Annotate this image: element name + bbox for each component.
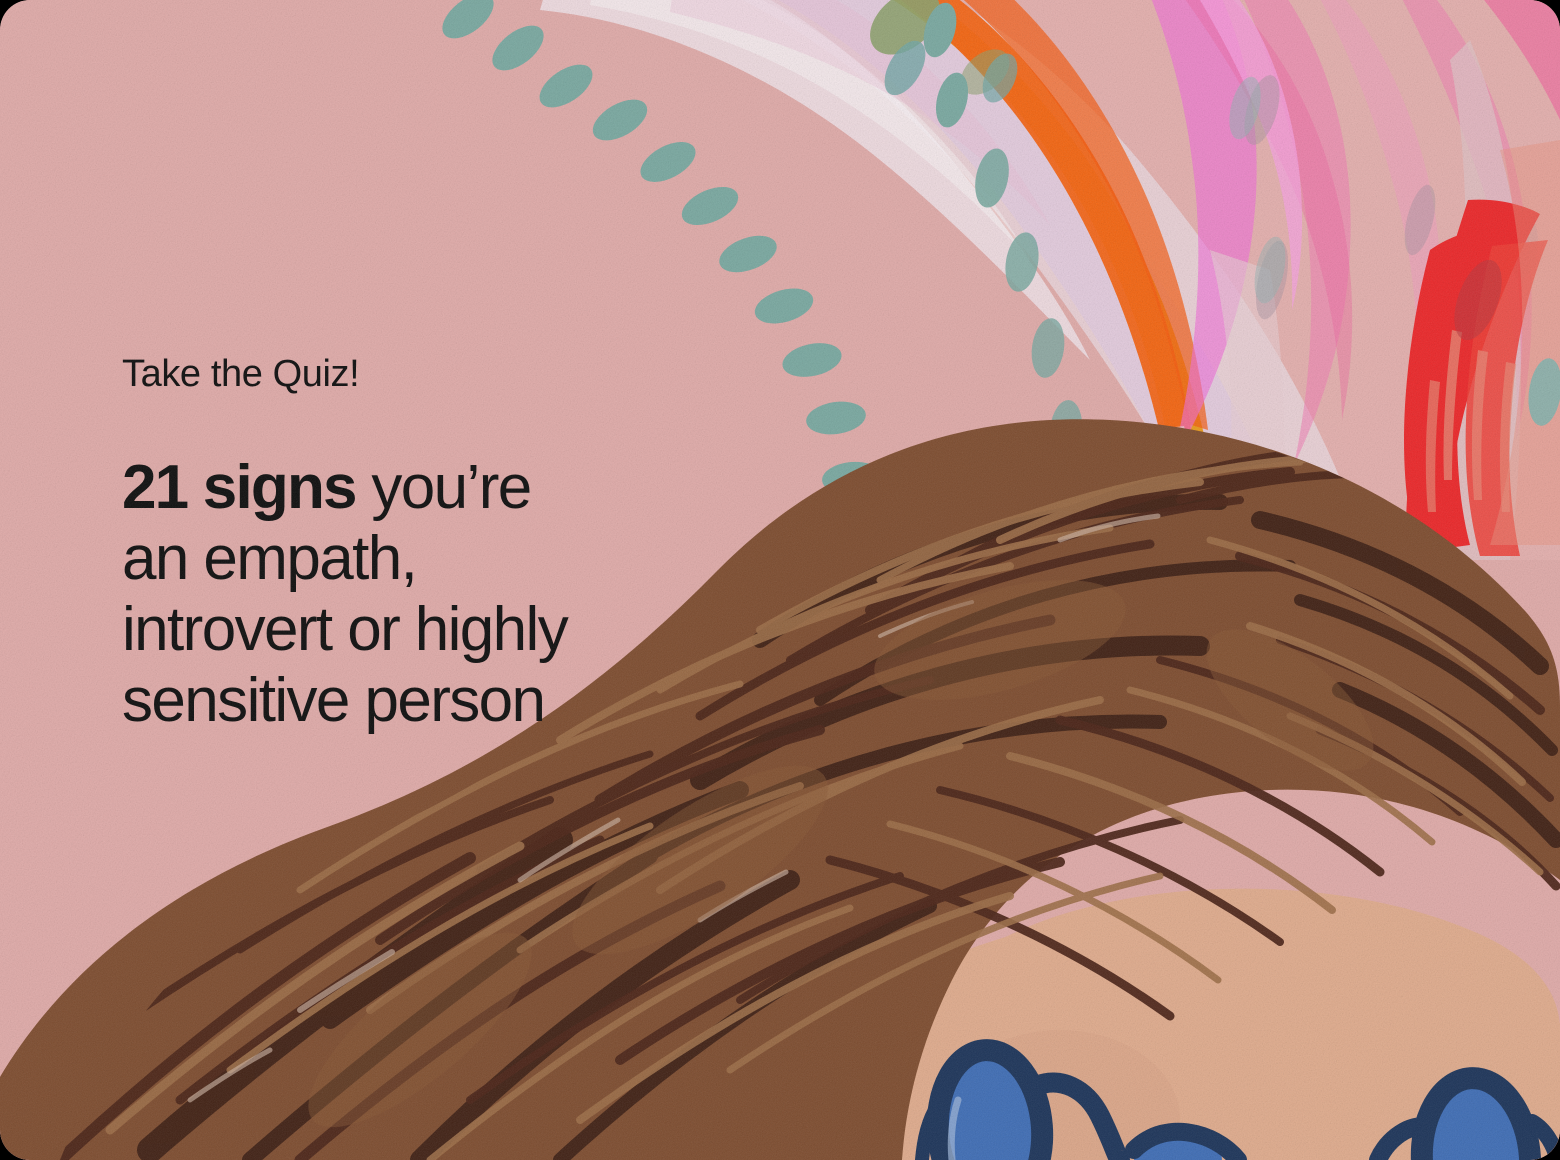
page-title: 21 signs you’re an empath, introvert or … [122, 452, 592, 736]
eyebrow-label: Take the Quiz! [122, 352, 592, 396]
eyeglasses-bridge [1134, 1132, 1238, 1160]
quiz-promo-card[interactable]: Take the Quiz! 21 signs you’re an empath… [0, 0, 1560, 1160]
headline-emphasis: 21 signs [122, 453, 356, 522]
card-copy: Take the Quiz! 21 signs you’re an empath… [122, 352, 592, 736]
